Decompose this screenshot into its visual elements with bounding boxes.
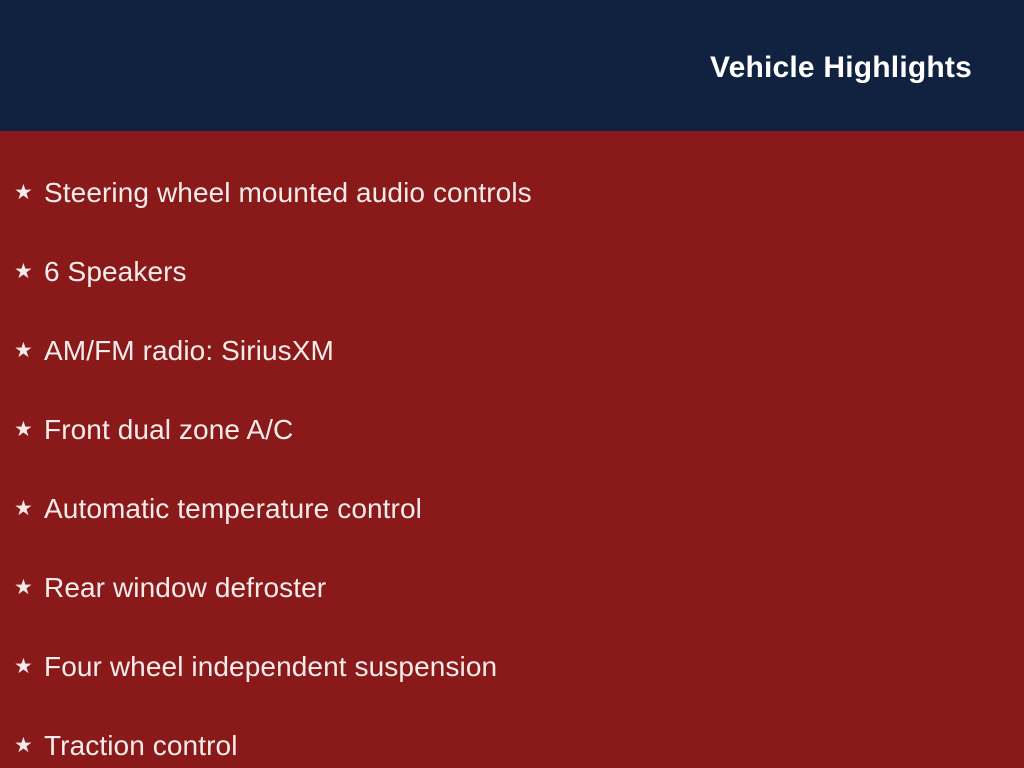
list-item: ★ Rear window defroster	[0, 548, 1024, 627]
list-item-label: Steering wheel mounted audio controls	[44, 178, 1024, 207]
list-item-label: Rear window defroster	[44, 573, 1024, 602]
star-bullet-icon: ★	[14, 340, 44, 361]
slide-body: ★ Steering wheel mounted audio controls …	[0, 131, 1024, 768]
list-item-label: AM/FM radio: SiriusXM	[44, 336, 1024, 365]
slide-header-bar: Vehicle Highlights	[0, 0, 1024, 131]
list-item-label: 6 Speakers	[44, 257, 1024, 286]
list-item: ★ Front dual zone A/C	[0, 390, 1024, 469]
list-item: ★ Automatic temperature control	[0, 469, 1024, 548]
list-item: ★ Traction control	[0, 706, 1024, 768]
list-item-label: Traction control	[44, 731, 1024, 760]
list-item-label: Front dual zone A/C	[44, 415, 1024, 444]
star-bullet-icon: ★	[14, 261, 44, 282]
list-item: ★ Steering wheel mounted audio controls	[0, 153, 1024, 232]
page-title: Vehicle Highlights	[710, 53, 972, 83]
list-item: ★ AM/FM radio: SiriusXM	[0, 311, 1024, 390]
vehicle-highlights-list: ★ Steering wheel mounted audio controls …	[0, 153, 1024, 768]
star-bullet-icon: ★	[14, 182, 44, 203]
star-bullet-icon: ★	[14, 735, 44, 756]
star-bullet-icon: ★	[14, 577, 44, 598]
vehicle-highlights-slide: Vehicle Highlights ★ Steering wheel moun…	[0, 0, 1024, 768]
list-item-label: Automatic temperature control	[44, 494, 1024, 523]
star-bullet-icon: ★	[14, 656, 44, 677]
list-item-label: Four wheel independent suspension	[44, 652, 1024, 681]
star-bullet-icon: ★	[14, 419, 44, 440]
list-item: ★ Four wheel independent suspension	[0, 627, 1024, 706]
list-item: ★ 6 Speakers	[0, 232, 1024, 311]
star-bullet-icon: ★	[14, 498, 44, 519]
